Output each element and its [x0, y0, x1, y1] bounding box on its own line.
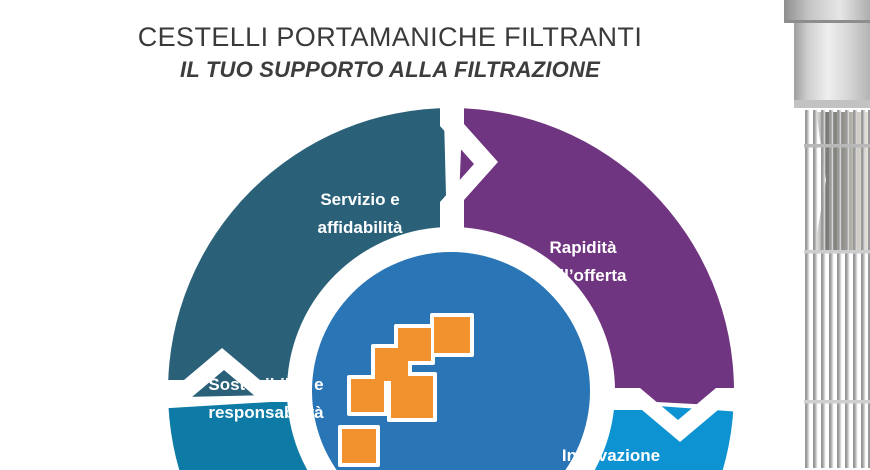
filter-basket-photo	[780, 0, 870, 470]
logo-square-5	[391, 376, 433, 418]
heading-block: CESTELLI PORTAMANICHE FILTRANTI IL TUO S…	[0, 22, 780, 84]
label-rapidita-line2: nell’offerta	[540, 266, 627, 285]
logo-square-6	[342, 429, 376, 463]
label-rapidita-line1: Rapidità	[549, 238, 617, 257]
label-servizio-line1: Servizio e	[320, 190, 399, 209]
label-servizio-line2: affidabilità	[317, 218, 403, 237]
page-title: CESTELLI PORTAMANICHE FILTRANTI	[0, 22, 780, 52]
label-innovazione-line1: Innovazione	[562, 446, 660, 465]
label-sostenibilita-line1: Sostenibilità e	[208, 375, 323, 394]
slide-canvas: CESTELLI PORTAMANICHE FILTRANTI IL TUO S…	[0, 0, 870, 470]
page-subtitle: IL TUO SUPPORTO ALLA FILTRAZIONE	[0, 57, 780, 83]
logo-square-4	[434, 317, 470, 353]
cycle-diagram: Servizio e affidabilità Rapidità nell’of…	[168, 108, 734, 470]
label-sostenibilita-line2: responsabilità	[208, 403, 324, 422]
basket-flange	[784, 0, 870, 22]
logo-square-3	[398, 328, 431, 361]
basket-cap	[794, 23, 870, 107]
logo-square-1	[351, 379, 384, 412]
